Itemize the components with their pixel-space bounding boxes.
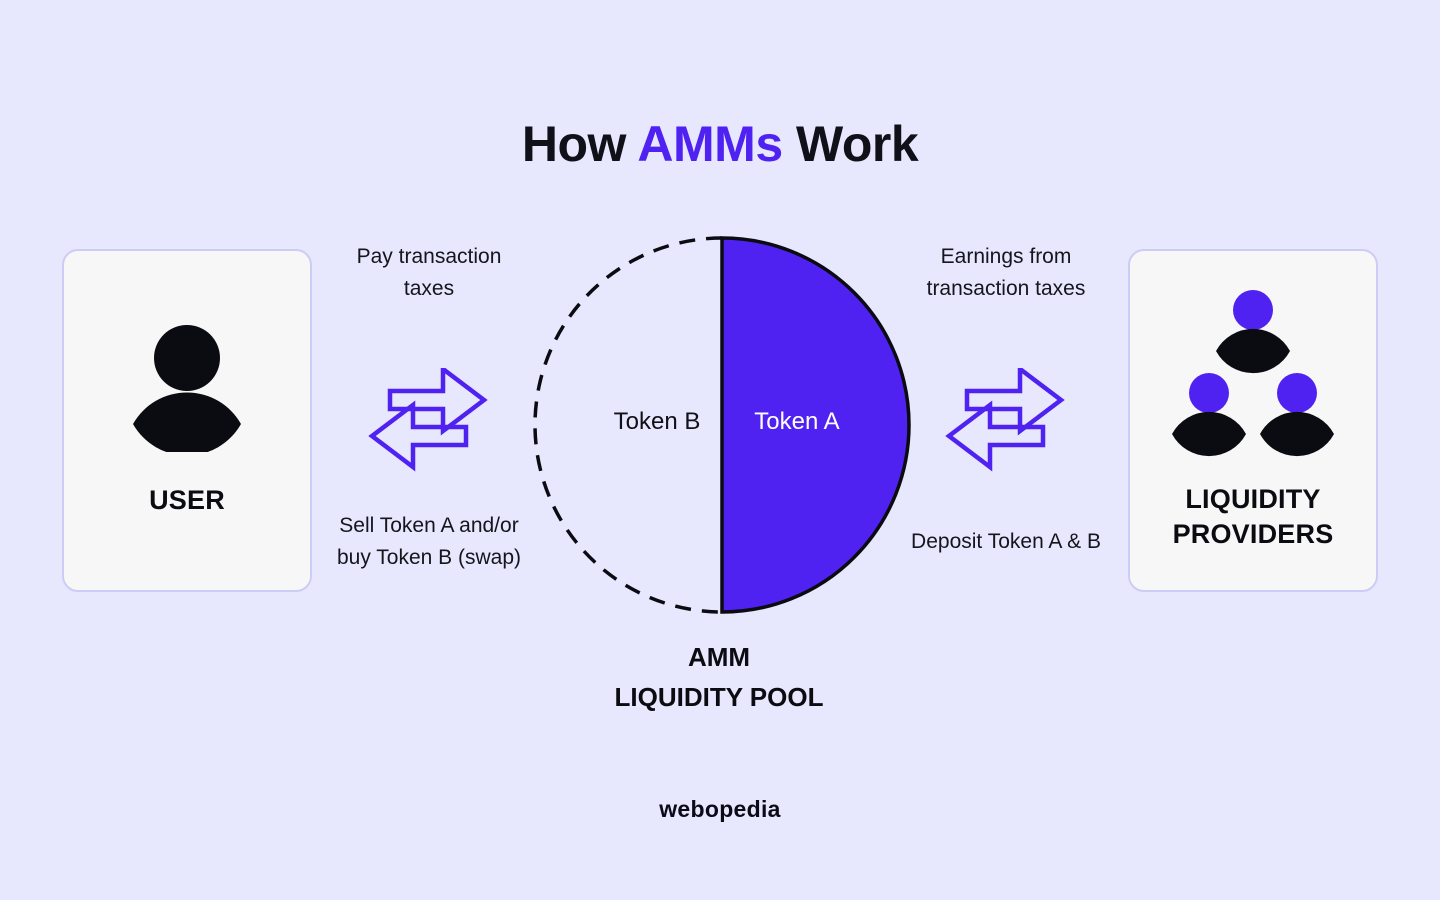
pool-caption-line-1: AMM: [519, 637, 919, 677]
flow-label-earnings-from-transaction-taxes: Earnings from transaction taxes: [906, 241, 1106, 305]
flow-label-sell-swap: Sell Token A and/or buy Token B (swap): [329, 510, 529, 574]
title-after: Work: [783, 116, 919, 172]
liquidity-providers-card: LIQUIDITY PROVIDERS: [1128, 249, 1378, 592]
title-accent: AMMs: [637, 116, 782, 172]
person-icon: [131, 324, 243, 457]
pool-caption-line-2: LIQUIDITY POOL: [519, 677, 919, 717]
webopedia-logo: webopedia: [0, 796, 1440, 823]
pool-caption: AMM LIQUIDITY POOL: [519, 637, 919, 717]
title-before: How: [522, 116, 638, 172]
liquidity-providers-card-label: LIQUIDITY PROVIDERS: [1173, 482, 1334, 552]
bidirectional-swap-arrow-icon: [940, 368, 1070, 477]
infographic-canvas: How AMMs Work USER: [0, 0, 1440, 900]
page-title: How AMMs Work: [0, 112, 1440, 176]
amm-liquidity-pool-graphic: Token B Token A: [527, 230, 917, 620]
user-card: USER: [62, 249, 312, 592]
flow-label-pay-transaction-taxes: Pay transaction taxes: [329, 241, 529, 305]
token-a-label: Token A: [717, 407, 877, 437]
flow-label-deposit-tokens: Deposit Token A & B: [906, 526, 1106, 558]
user-card-label: USER: [149, 483, 225, 518]
token-b-label: Token B: [577, 407, 737, 437]
bidirectional-swap-arrow-icon: [363, 368, 493, 477]
lp-label-line-2: PROVIDERS: [1173, 517, 1334, 552]
people-group-icon: [1164, 289, 1342, 462]
lp-label-line-1: LIQUIDITY: [1173, 482, 1334, 517]
